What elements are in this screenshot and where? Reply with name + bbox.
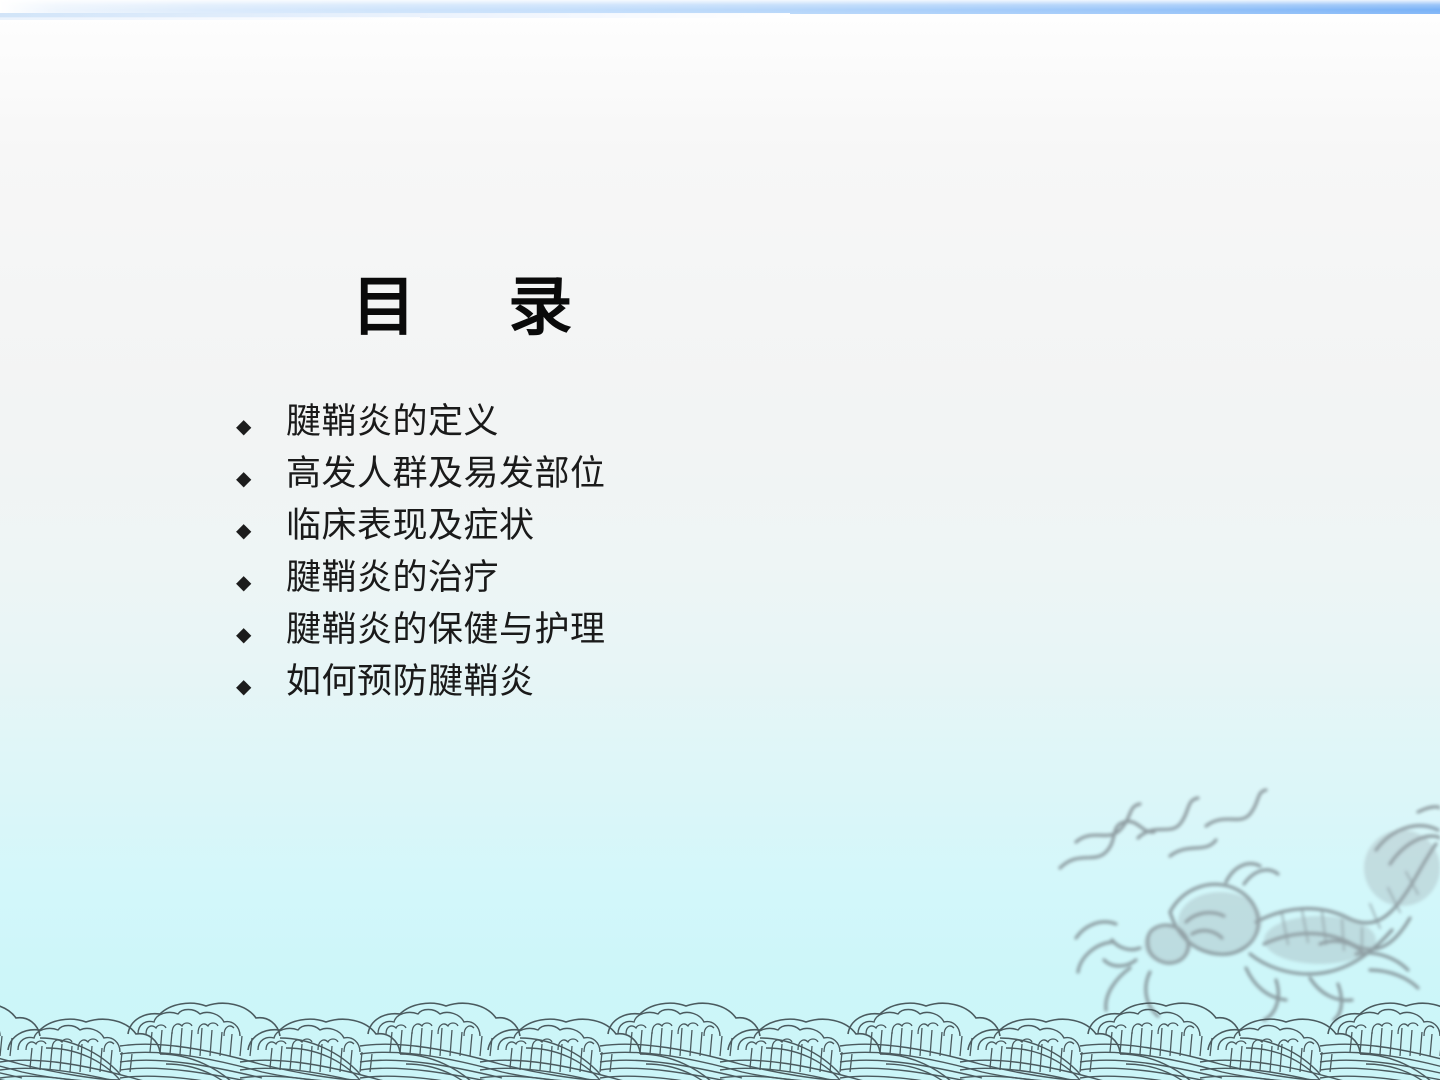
toc-item-label: 腱鞘炎的定义 [286,396,499,448]
top-gradient-band [0,0,1440,14]
chinese-dragon-icon [1020,772,1440,1022]
slide-canvas: 目 录 ◆ 腱鞘炎的定义 ◆ 高发人群及易发部位 ◆ 临床表现及症状 ◆ 腱鞘炎… [0,0,1440,1080]
diamond-bullet-icon: ◆ [232,661,286,713]
chinese-wave-pattern-icon [0,994,1440,1080]
toc-item-label: 如何预防腱鞘炎 [286,656,535,708]
diamond-bullet-icon: ◆ [232,557,286,609]
list-item[interactable]: ◆ 高发人群及易发部位 [232,448,1032,500]
list-item[interactable]: ◆ 腱鞘炎的治疗 [232,552,1032,604]
toc-item-label: 高发人群及易发部位 [286,448,606,500]
list-item[interactable]: ◆ 如何预防腱鞘炎 [232,656,1032,708]
table-of-contents-list: ◆ 腱鞘炎的定义 ◆ 高发人群及易发部位 ◆ 临床表现及症状 ◆ 腱鞘炎的治疗 … [232,396,1032,708]
diamond-bullet-icon: ◆ [232,505,286,557]
list-item[interactable]: ◆ 临床表现及症状 [232,500,1032,552]
diamond-bullet-icon: ◆ [232,401,286,453]
diamond-bullet-icon: ◆ [232,609,286,661]
list-item[interactable]: ◆ 腱鞘炎的保健与护理 [232,604,1032,656]
page-title: 目 录 [0,276,940,340]
top-band-streak-secondary [0,17,420,20]
toc-item-label: 临床表现及症状 [286,500,535,552]
toc-item-label: 腱鞘炎的治疗 [286,552,499,604]
toc-item-label: 腱鞘炎的保健与护理 [286,604,606,656]
diamond-bullet-icon: ◆ [232,453,286,505]
list-item[interactable]: ◆ 腱鞘炎的定义 [232,396,1032,448]
